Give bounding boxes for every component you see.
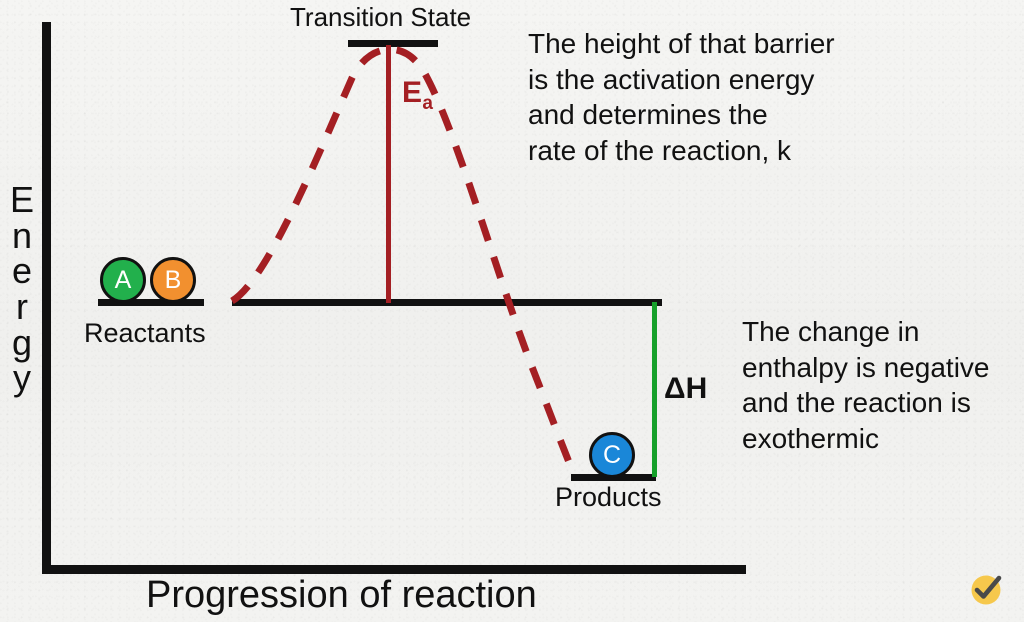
y-axis — [42, 22, 51, 574]
activation-energy-subscript: a — [422, 93, 433, 114]
molecule-a: A — [100, 257, 146, 303]
activation-energy-line — [386, 45, 391, 303]
y-axis-label-letter: y — [13, 360, 31, 396]
activation-energy-symbol: E — [402, 76, 422, 109]
y-axis-label-letter: g — [12, 325, 32, 361]
y-axis-label-letter: e — [12, 253, 32, 289]
y-axis-label-letter: r — [16, 289, 28, 325]
reaction-coordinate-curve — [0, 0, 1024, 622]
y-axis-label-letter: E — [10, 182, 34, 218]
enthalpy-change-line — [652, 302, 657, 477]
reactants-label: Reactants — [84, 320, 206, 347]
activation-energy-annotation: The height of that barrier is the activa… — [528, 26, 835, 168]
enthalpy-annotation: The change in enthalpy is negative and t… — [742, 314, 990, 456]
y-axis-label: E n e r g y — [4, 182, 40, 396]
transition-state-label: Transition State — [290, 4, 471, 30]
checkmark-badge-icon — [966, 568, 1008, 610]
molecule-b: B — [150, 257, 196, 303]
x-axis-label: Progression of reaction — [146, 576, 537, 614]
energy-diagram-canvas: E n e r g y Progression of reaction Ea Δ… — [0, 0, 1024, 622]
y-axis-label-letter: n — [12, 218, 32, 254]
products-label: Products — [555, 484, 662, 511]
enthalpy-change-label: ΔH — [664, 374, 707, 404]
activation-energy-label: Ea — [402, 78, 433, 113]
molecule-c: C — [589, 432, 635, 478]
transition-state-level-line — [348, 40, 438, 47]
reactant-level-line — [232, 299, 662, 306]
x-axis — [42, 565, 746, 574]
